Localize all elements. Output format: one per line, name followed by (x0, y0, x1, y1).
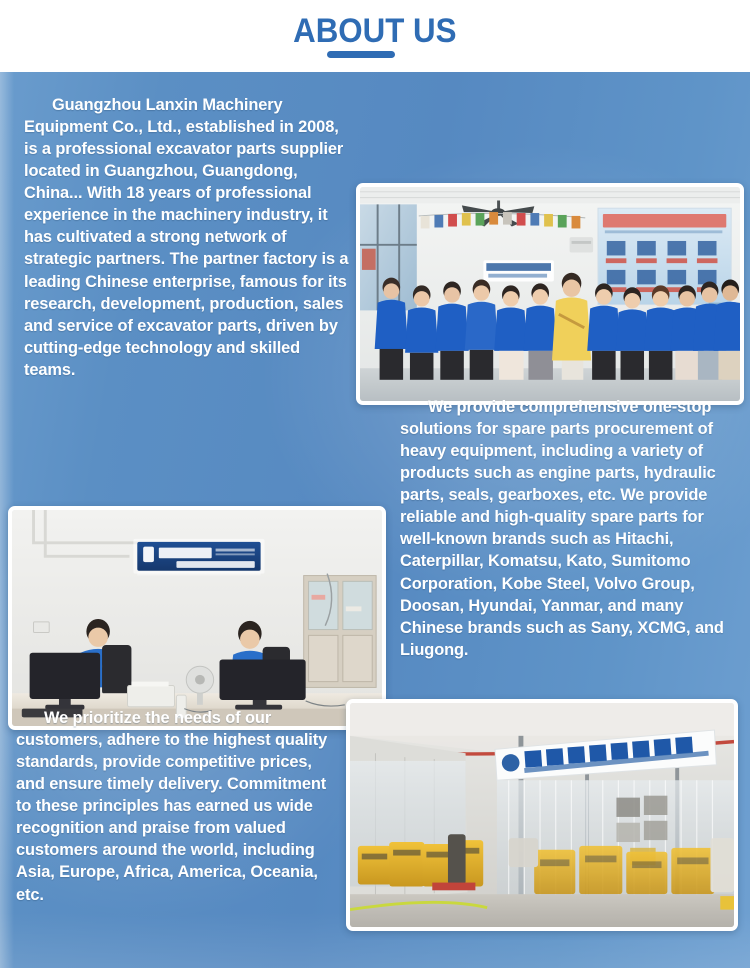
warehouse-engines-photo (346, 699, 738, 931)
page-header: ABOUT US (0, 0, 750, 72)
office-workstations-photo (8, 506, 386, 730)
section-products-brands-text: We provide comprehensive one-stop soluti… (400, 396, 740, 661)
customer-commitment-paragraph: We prioritize the needs of our customers… (16, 707, 336, 906)
about-content-panel: Guangzhou Lanxin Machinery Equipment Co.… (0, 72, 750, 968)
about-us-page: ABOUT US Guangzhou Lanxin Machinery Equi… (0, 0, 750, 968)
section-customer-commitment-text: We prioritize the needs of our customers… (16, 707, 336, 906)
company-intro-paragraph: Guangzhou Lanxin Machinery Equipment Co.… (24, 94, 354, 381)
title-underline-accent (327, 51, 395, 58)
section-company-intro-text: Guangzhou Lanxin Machinery Equipment Co.… (24, 94, 354, 381)
warehouse-engines-illustration (350, 703, 734, 927)
team-group-photo (356, 183, 744, 405)
page-title: ABOUT US (293, 14, 456, 48)
page-title-wrap: ABOUT US (286, 14, 464, 58)
team-group-photo-illustration (360, 187, 740, 401)
products-brands-paragraph: We provide comprehensive one-stop soluti… (400, 396, 740, 661)
office-workstations-illustration (12, 510, 382, 726)
